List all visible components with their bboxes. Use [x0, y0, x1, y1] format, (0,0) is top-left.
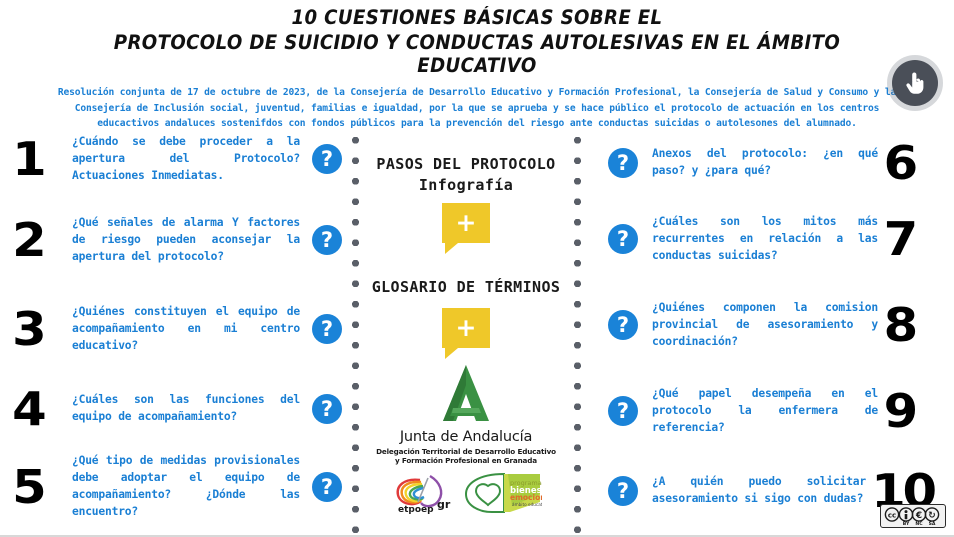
divider-left-dotted — [348, 128, 362, 537]
question-text-5: ¿Qué tipo de medidas provisionales debe … — [72, 453, 300, 521]
question-text-6: Anexos del protocolo: ¿en qué paso? y ¿p… — [652, 146, 878, 180]
question-text-10: ¿A quién puedo solicitar asesoramiento s… — [652, 474, 866, 508]
question-number-3: 3 — [12, 306, 62, 352]
protocol-steps-heading: PASOS DEL PROTOCOLO — [362, 154, 570, 176]
question-item-8[interactable]: ? ¿Quiénes componen la comision provinci… — [584, 300, 954, 351]
organization-name: Junta de Andalucía — [362, 429, 570, 445]
plus-icon: + — [442, 203, 490, 243]
question-badge-icon-8[interactable]: ? — [608, 310, 638, 340]
question-badge-icon-5[interactable]: ? — [312, 472, 342, 502]
svg-text:cc: cc — [888, 512, 896, 520]
question-item-4[interactable]: 4 ¿Cuáles son las funciones del equipo d… — [0, 386, 348, 432]
question-number-1: 1 — [12, 136, 62, 182]
organization-department-line-2: y Formación Profesional en Granada — [362, 456, 570, 465]
question-badge-icon-7[interactable]: ? — [608, 224, 638, 254]
question-number-5: 5 — [12, 464, 62, 510]
question-text-3: ¿Quiénes constituyen el equipo de acompa… — [72, 304, 300, 355]
glossary-heading: GLOSARIO DE TÉRMINOS — [362, 277, 570, 299]
question-number-2: 2 — [12, 217, 62, 263]
question-item-7[interactable]: ? ¿Cuáles son los mitos más recurrentes … — [584, 214, 954, 265]
question-number-8: 8 — [884, 302, 947, 348]
partner-logos-row: etpoep gr programa bienestar emocional á… — [362, 472, 570, 514]
svg-text:emocional: emocional — [510, 493, 542, 502]
question-badge-icon-10[interactable]: ? — [608, 476, 638, 506]
plus-icon: + — [442, 308, 490, 348]
creative-commons-badge[interactable]: cc € ↻ BY NC SA — [880, 504, 946, 528]
question-text-9: ¿Qué papel desempeña en el protocolo la … — [652, 386, 878, 437]
content-columns: 1 ¿Cuándo se debe proceder a la apertura… — [0, 128, 954, 537]
question-text-4: ¿Cuáles son las funciones del equipo de … — [72, 392, 300, 426]
question-item-6[interactable]: ? Anexos del protocolo: ¿en qué paso? y … — [584, 140, 954, 186]
infographic-page: 10 CUESTIONES BÁSICAS SOBRE EL PROTOCOLO… — [0, 0, 954, 537]
question-item-1[interactable]: 1 ¿Cuándo se debe proceder a la apertura… — [0, 134, 348, 185]
touch-hand-icon-button[interactable] — [892, 60, 938, 106]
protocol-steps-expand-button[interactable]: + — [442, 203, 490, 243]
question-item-3[interactable]: 3 ¿Quiénes constituyen el equipo de acom… — [0, 304, 348, 355]
question-item-9[interactable]: ? ¿Qué papel desempeña en el protocolo l… — [584, 386, 954, 437]
question-number-7: 7 — [884, 216, 947, 262]
page-subtitle: Resolución conjunta de 17 de octubre de … — [26, 85, 928, 132]
question-badge-icon-1[interactable]: ? — [312, 144, 342, 174]
programa-bienestar-emocional-logo: programa bienestar emocional ámbito educ… — [464, 472, 542, 514]
question-badge-icon-2[interactable]: ? — [312, 225, 342, 255]
etpoep-gr-logo: etpoep gr — [390, 472, 454, 514]
glossary-block: GLOSARIO DE TÉRMINOS + — [362, 277, 570, 348]
svg-text:SA: SA — [929, 521, 936, 526]
question-badge-icon-6[interactable]: ? — [608, 148, 638, 178]
question-badge-icon-9[interactable]: ? — [608, 396, 638, 426]
glossary-expand-button[interactable]: + — [442, 308, 490, 348]
question-item-5[interactable]: 5 ¿Qué tipo de medidas provisionales deb… — [0, 453, 348, 521]
question-text-2: ¿Qué señales de alarma Y factores de rie… — [72, 215, 300, 266]
protocol-steps-block: PASOS DEL PROTOCOLO Infografía + — [362, 154, 570, 243]
svg-text:↻: ↻ — [928, 511, 936, 521]
svg-text:NC: NC — [915, 521, 923, 526]
svg-text:€: € — [915, 511, 922, 521]
organization-department-line-1: Delegación Territorial de Desarrollo Edu… — [362, 447, 570, 456]
svg-text:gr: gr — [437, 498, 451, 511]
question-number-9: 9 — [884, 388, 947, 434]
junta-andalucia-arch-icon — [423, 364, 509, 426]
question-badge-icon-3[interactable]: ? — [312, 314, 342, 344]
question-item-2[interactable]: 2 ¿Qué señales de alarma Y factores de r… — [0, 215, 348, 266]
page-title-line-1: 10 CUESTIONES BÁSICAS SOBRE EL — [58, 6, 897, 29]
question-text-7: ¿Cuáles son los mitos más recurrentes en… — [652, 214, 878, 265]
question-text-8: ¿Quiénes componen la comision provincial… — [652, 300, 878, 351]
right-question-column: ? Anexos del protocolo: ¿en qué paso? y … — [584, 128, 954, 537]
organization-block: Junta de Andalucía Delegación Territoria… — [362, 364, 570, 465]
center-column: PASOS DEL PROTOCOLO Infografía + GLOSARI… — [362, 128, 570, 537]
question-number-4: 4 — [12, 386, 62, 432]
question-number-6: 6 — [884, 140, 947, 186]
svg-text:etpoep: etpoep — [398, 505, 434, 514]
question-text-1: ¿Cuándo se debe proceder a la apertura d… — [72, 134, 300, 185]
left-question-column: 1 ¿Cuándo se debe proceder a la apertura… — [0, 128, 348, 537]
page-title-line-2: PROTOCOLO DE SUICIDIO Y CONDUCTAS AUTOLE… — [58, 31, 897, 77]
svg-text:ámbito educativo: ámbito educativo — [512, 502, 542, 507]
svg-text:BY: BY — [903, 521, 910, 526]
page-header: 10 CUESTIONES BÁSICAS SOBRE EL PROTOCOLO… — [0, 0, 954, 132]
protocol-steps-subheading: Infografía — [362, 176, 570, 194]
question-badge-icon-4[interactable]: ? — [312, 394, 342, 424]
divider-right-dotted — [570, 128, 584, 537]
